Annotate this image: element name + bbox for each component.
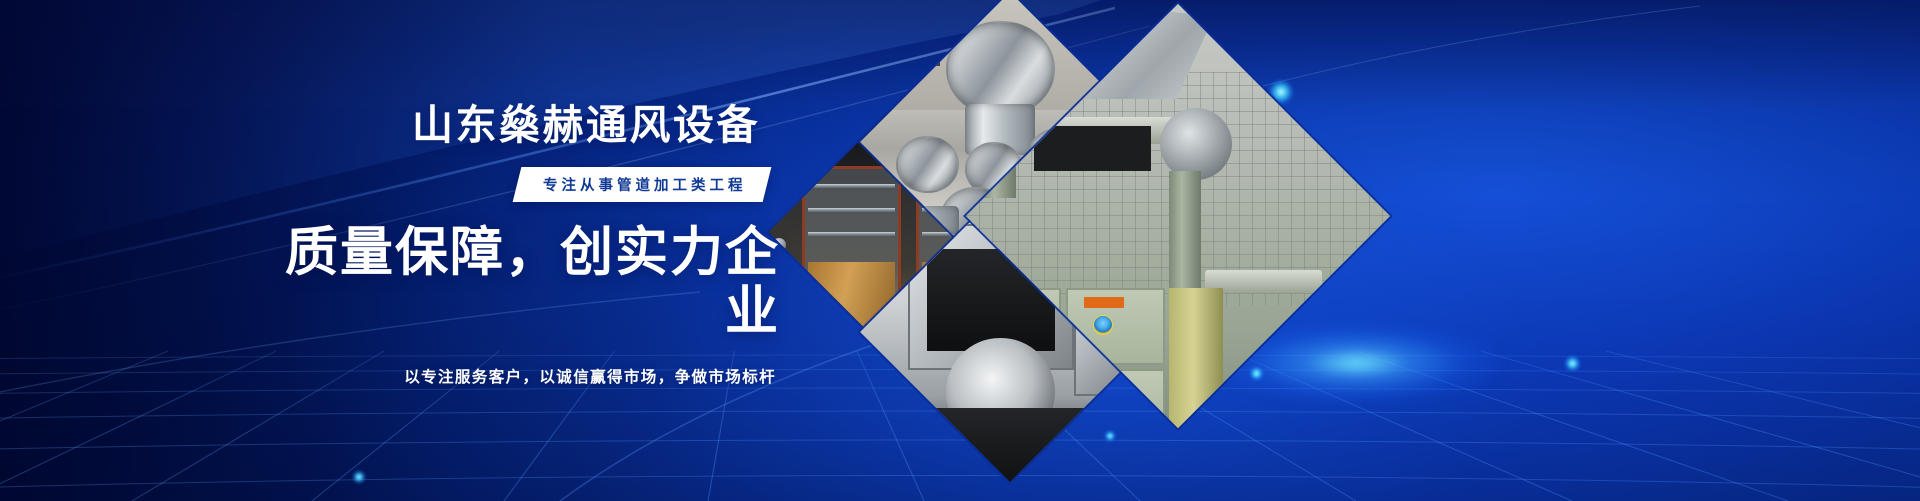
- subtitle-badge-label: 专注从事管道加工类工程: [543, 174, 747, 195]
- badge-row: 专注从事管道加工类工程: [250, 167, 780, 202]
- subtitle-badge: 专注从事管道加工类工程: [512, 167, 770, 202]
- hero-headline: 质量保障，创实力企业: [250, 224, 780, 341]
- company-name: 山东燊赫通风设备: [250, 104, 780, 147]
- hero-banner: 山东燊赫通风设备 专注从事管道加工类工程 质量保障，创实力企业 以专注服务客户，…: [0, 0, 1920, 501]
- diamond-photo-collage: [800, 0, 1500, 412]
- hero-copy: 山东燊赫通风设备 专注从事管道加工类工程 质量保障，创实力企业 以专注服务客户，…: [250, 104, 780, 387]
- hero-tagline: 以专注服务客户，以诚信赢得市场，争做市场标杆: [250, 365, 780, 387]
